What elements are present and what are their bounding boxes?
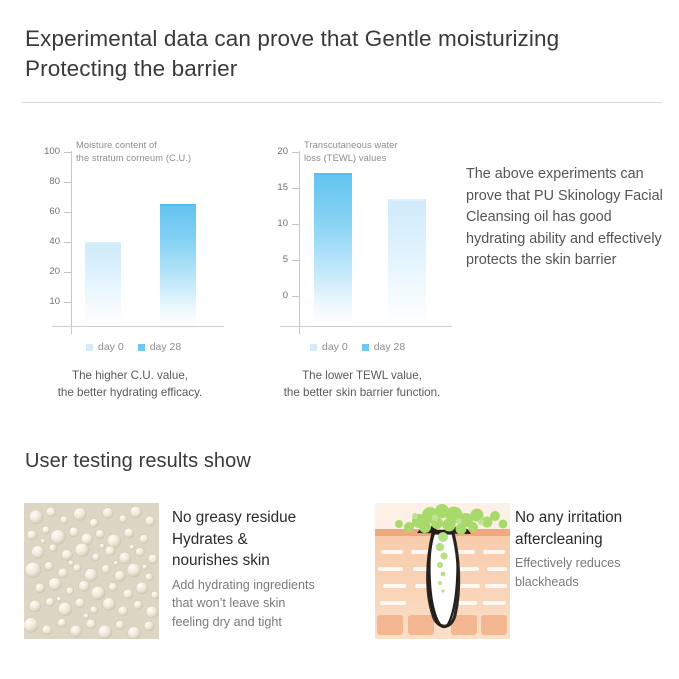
legend-swatch-icon [86,344,93,351]
y-tick-mark [292,296,299,297]
experiments-summary-text: The above experiments can prove that PU … [466,164,666,272]
chart-plot-area: 20 15 10 5 0 [262,145,458,335]
chart-moisture-content: Moisture content of the stratum corneum … [24,145,224,360]
y-tick-label: 10 [277,219,288,229]
bar-fill [160,204,196,326]
y-tick-mark [292,152,299,153]
y-tick: 10 [262,219,300,229]
y-tick: 60 [24,207,72,217]
legend-item-day-0: day 0 [310,341,348,353]
bar-fill [85,242,121,326]
y-tick: 20 [262,147,300,157]
legend-swatch-icon [362,344,369,351]
bar-day-0 [314,173,352,326]
y-tick: 40 [24,237,72,247]
legend-label: day 28 [374,341,406,353]
feature-text: No any irritation aftercleaning Effectiv… [515,507,679,591]
chart-legend: day 0 day 28 [310,341,405,353]
bar-fill [388,199,426,326]
bar-cap [85,242,121,244]
y-tick: 0 [262,291,300,301]
feature-subtext: Effectively reduces blackheads [515,554,679,591]
y-tick-label: 40 [49,237,60,247]
y-tick-label: 0 [283,291,288,301]
legend-item-day-28: day 28 [362,341,406,353]
x-axis-baseline [52,326,224,327]
y-tick: 15 [262,183,300,193]
feature-heading: No greasy residue Hydrates & nourishes s… [172,507,354,572]
y-tick-mark [292,224,299,225]
chart-caption-tewl: The lower TEWL value, the better skin ba… [250,368,474,401]
x-axis-baseline [280,326,452,327]
section-title-user-testing: User testing results show [25,450,251,473]
y-tick-label: 60 [49,207,60,217]
bubbles-texture-image [24,503,159,639]
legend-label: day 0 [98,341,124,353]
y-tick-label: 15 [277,183,288,193]
legend-item-day-28: day 28 [138,341,182,353]
bar-day-0 [85,242,121,326]
y-tick-mark [64,182,71,183]
bar-day-28 [160,204,196,326]
y-tick-mark [64,272,71,273]
y-tick-label: 10 [49,297,60,307]
y-tick-mark [292,188,299,189]
page-title: Experimental data can prove that Gentle … [25,24,645,84]
legend-swatch-icon [310,344,317,351]
y-tick-mark [64,152,71,153]
bar-fill [314,173,352,326]
y-tick-mark [64,242,71,243]
bar-day-28 [388,199,426,326]
y-tick-mark [292,260,299,261]
feature-heading: No any irritation aftercleaning [515,507,679,550]
feature-subtext: Add hydrating ingredients that won’t lea… [172,576,354,632]
y-tick-label: 5 [283,255,288,265]
skin-pore-cross-section-image [375,503,510,639]
legend-label: day 0 [322,341,348,353]
chart-caption-moisture: The higher C.U. value, the better hydrat… [20,368,240,401]
y-axis-line [299,151,300,334]
y-tick-mark [64,212,71,213]
bar-cap [160,204,196,206]
chart-legend: day 0 day 28 [86,341,181,353]
y-tick-label: 20 [277,147,288,157]
chart-plot-area: 100 80 60 40 20 10 [24,145,224,335]
legend-label: day 28 [150,341,182,353]
y-tick: 5 [262,255,300,265]
title-divider [22,102,662,103]
legend-item-day-0: day 0 [86,341,124,353]
y-tick: 80 [24,177,72,187]
y-tick-label: 20 [49,267,60,277]
y-tick-label: 100 [44,147,60,157]
feature-text: No greasy residue Hydrates & nourishes s… [172,507,354,631]
chart-tewl-values: Transcutaneous water loss (TEWL) values … [262,145,458,360]
y-tick: 100 [24,147,72,157]
bar-cap [314,173,352,175]
y-tick: 10 [24,297,72,307]
y-tick-mark [64,302,71,303]
legend-swatch-icon [138,344,145,351]
bar-cap [388,199,426,201]
y-tick: 20 [24,267,72,277]
y-tick-label: 80 [49,177,60,187]
